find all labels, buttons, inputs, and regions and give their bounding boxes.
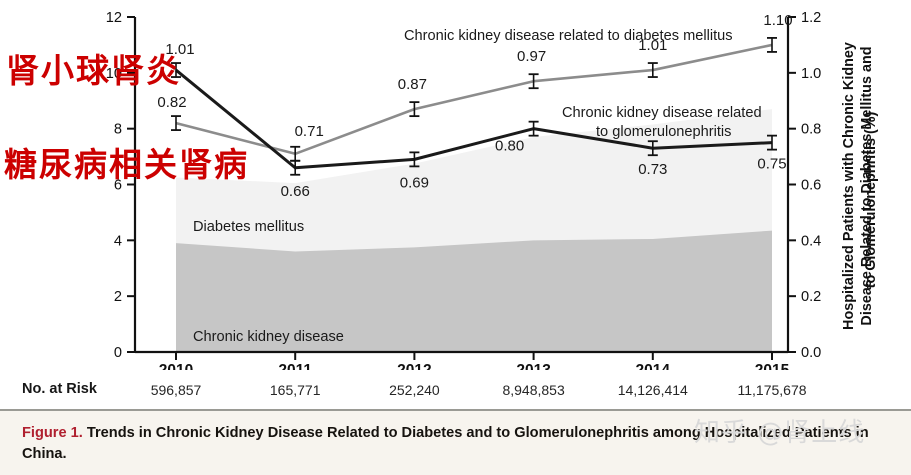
annotation-diabetic-nephropathy-chinese: 糖尿病相关肾病	[4, 138, 249, 186]
data-label: 0.80	[495, 138, 524, 155]
right-axis: 0.00.20.40.60.81.01.2	[788, 10, 821, 361]
right-axis-tick: 0.8	[801, 122, 821, 138]
right-axis-tick: 0.6	[801, 178, 821, 194]
x-axis-tick: 2011	[278, 362, 312, 370]
annotation-glomerulonephritis-line-1: Chronic kidney disease related	[562, 105, 762, 121]
right-axis-title-line-3: to Glomerulonephritis (%)	[863, 111, 879, 288]
x-axis-tick: 2015	[755, 362, 790, 370]
data-label: 0.69	[400, 174, 429, 191]
data-label: 0.82	[157, 94, 186, 111]
right-axis-tick: 1.2	[801, 10, 821, 26]
no-at-risk-value: 8,948,853	[502, 382, 564, 398]
figure-root: 024681012 0.00.20.40.60.81.01.2 20102011…	[0, 0, 911, 475]
figure-caption-text: Trends in Chronic Kidney Disease Related…	[22, 425, 869, 462]
x-axis-tick: 2012	[397, 362, 431, 370]
left-axis-tick: 2	[114, 289, 122, 305]
annotation-glomerulonephritis-chinese: 肾小球肾炎	[6, 44, 181, 92]
no-at-risk-value: 596,857	[151, 382, 202, 398]
data-label: 0.73	[638, 161, 667, 178]
no-at-risk-row: No. at Risk 596,857165,771252,2408,948,8…	[0, 373, 911, 411]
left-axis-tick: 0	[114, 345, 122, 361]
data-label: 0.71	[295, 123, 324, 140]
left-axis-tick: 8	[114, 122, 122, 138]
annotation-area-diabetes: Diabetes mellitus	[193, 219, 304, 235]
left-axis-tick: 4	[114, 233, 122, 249]
annotation-area-ckd: Chronic kidney disease	[193, 329, 344, 345]
x-axis-tick: 2013	[516, 362, 551, 370]
no-at-risk-value: 165,771	[270, 382, 321, 398]
annotation-diabetes-line: Chronic kidney disease related to diabet…	[404, 28, 733, 44]
chart-area: 024681012 0.00.20.40.60.81.01.2 20102011…	[0, 0, 911, 370]
figure-caption: Figure 1. Trends in Chronic Kidney Disea…	[0, 411, 911, 475]
no-at-risk-label: No. at Risk	[22, 381, 97, 397]
right-axis-tick: 0.2	[801, 289, 821, 305]
left-axis-tick: 12	[106, 10, 122, 26]
data-label: 1.10	[763, 12, 792, 29]
data-label: 0.97	[517, 48, 546, 65]
right-axis-tick: 0.4	[801, 233, 821, 249]
annotation-glomerulonephritis-line-2: to glomerulonephritis	[596, 124, 731, 140]
x-axis-tick: 2014	[636, 362, 671, 370]
data-label: 0.87	[398, 76, 427, 93]
no-at-risk-value: 11,175,678	[737, 382, 806, 398]
x-axis: 201020112012201320142015	[135, 352, 790, 370]
right-axis-tick: 1.0	[801, 66, 821, 82]
no-at-risk-value: 14,126,414	[618, 382, 688, 398]
figure-number: Figure 1.	[22, 425, 83, 441]
data-label: 0.66	[281, 183, 310, 200]
x-axis-tick: 2010	[159, 362, 193, 370]
no-at-risk-value: 252,240	[389, 382, 440, 398]
data-label: 0.75	[757, 156, 786, 173]
right-axis-title-line-1: Hospitalized Patients with Chronic Kidne…	[841, 42, 857, 330]
right-axis-tick: 0.0	[801, 345, 821, 361]
